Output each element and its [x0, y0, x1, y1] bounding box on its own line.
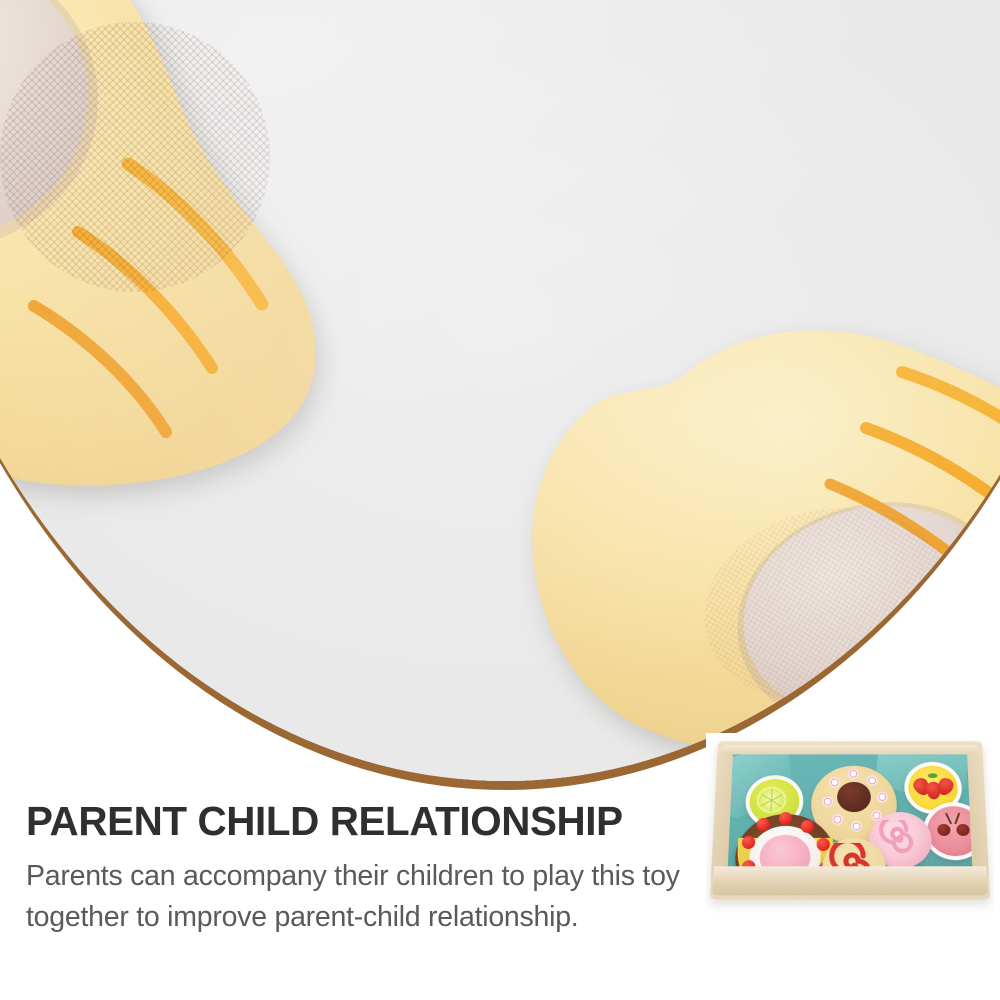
floret-icon: [829, 777, 840, 788]
page-subtitle: Parents can accompany their children to …: [26, 856, 691, 937]
hero-circle-mask: [0, 0, 1000, 790]
box-interior: [725, 754, 976, 870]
floret-icon: [851, 821, 862, 832]
copy-block: PARENT CHILD RELATIONSHIP Parents can ac…: [26, 800, 706, 937]
toy-fried-egg-left: [0, 0, 488, 514]
box-front-panel: [712, 866, 988, 895]
toy-fried-egg-right: [498, 316, 1000, 790]
hero-photo-frame: [0, 0, 1000, 790]
leaf-icon: [928, 773, 938, 778]
wooden-box: [714, 738, 986, 914]
box-body: [710, 741, 990, 899]
cherry-icon: [956, 824, 970, 836]
wooden-toy-fried-eggs-photo: [0, 0, 1000, 790]
toy-cake-cherry-cream: [733, 814, 835, 870]
floret-icon: [867, 775, 878, 786]
marketing-product-banner: PARENT CHILD RELATIONSHIP Parents can ac…: [0, 0, 1000, 1000]
floret-icon: [848, 769, 859, 780]
floret-icon: [877, 792, 888, 803]
tart-chocolate-center: [837, 782, 871, 812]
page-title: PARENT CHILD RELATIONSHIP: [26, 800, 696, 843]
product-inset-photo: [706, 733, 994, 929]
cherry-icon: [937, 824, 950, 836]
floret-icon: [822, 796, 833, 807]
